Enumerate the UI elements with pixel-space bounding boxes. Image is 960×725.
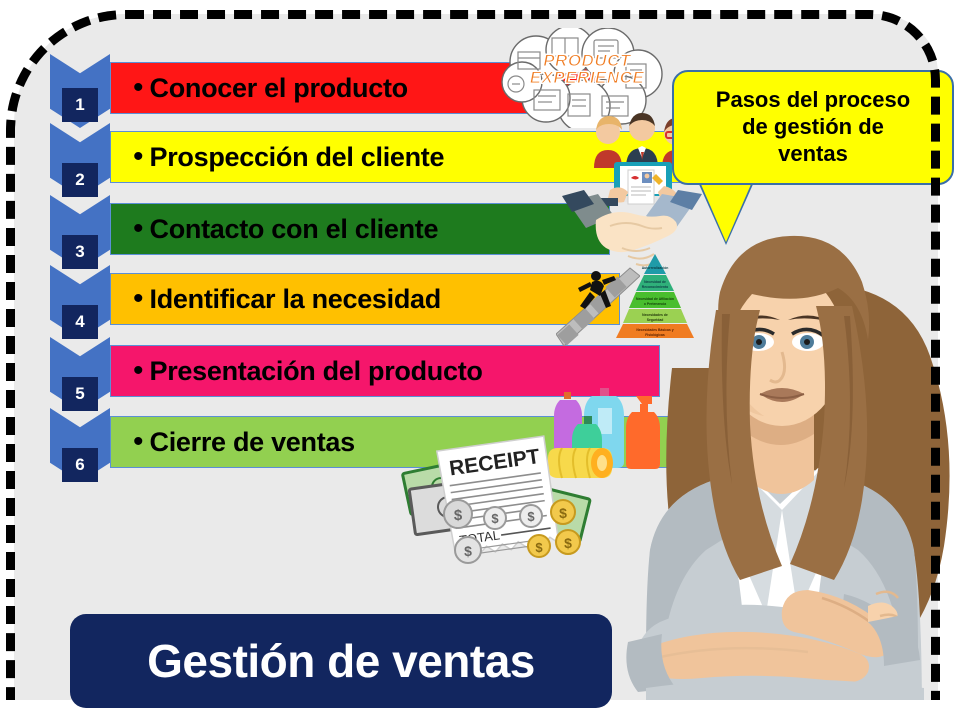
pe-line-1: PRODUCT (512, 52, 662, 69)
step-label: Conocer el producto (150, 73, 408, 104)
step-label: Cierre de ventas (150, 427, 355, 458)
callout-line-1: Pasos del proceso (716, 87, 910, 114)
step-label: Presentación del producto (150, 356, 483, 387)
svg-text:$: $ (559, 505, 567, 521)
callout-line-2: de gestión de (716, 114, 910, 141)
svg-text:$: $ (535, 540, 543, 555)
step-label: Contacto con el cliente (150, 214, 439, 245)
step-number-badge: 1 (62, 88, 98, 122)
step-bar[interactable]: • Contacto con el cliente (110, 203, 610, 255)
step-number-badge: 4 (62, 305, 98, 339)
svg-text:$: $ (464, 543, 472, 559)
step-number: 6 (75, 455, 84, 475)
callout-bubble: Pasos del proceso de gestión de ventas (672, 70, 954, 185)
step-number-badge: 2 (62, 163, 98, 197)
page-title: Gestión de ventas (147, 634, 535, 688)
product-experience-label: PRODUCT EXPERIENCE (512, 52, 662, 86)
step-number-badge: 3 (62, 235, 98, 269)
svg-text:$: $ (491, 511, 499, 526)
step-number-badge: 6 (62, 448, 98, 482)
step-number: 4 (75, 312, 84, 332)
callout-tail (700, 182, 752, 242)
step-label: Prospección del cliente (150, 142, 445, 173)
svg-text:$: $ (564, 535, 572, 551)
step-number: 3 (75, 242, 84, 262)
step-bar[interactable]: • Identificar la necesidad (110, 273, 620, 325)
title-banner: Gestión de ventas (70, 614, 612, 708)
step-label: Identificar la necesidad (150, 284, 441, 315)
pe-line-2: EXPERIENCE (512, 69, 662, 86)
callout-text: Pasos del proceso de gestión de ventas (716, 87, 910, 167)
infographic-canvas: PRODUCT EXPERIENCE (0, 0, 960, 720)
step-number: 5 (75, 384, 84, 404)
step-number: 2 (75, 170, 84, 190)
svg-text:$: $ (454, 507, 463, 524)
businesswoman-illustration (612, 218, 960, 720)
callout-line-3: ventas (716, 141, 910, 168)
receipt-money-icon: RECEIPT TOTAL $ $ $ $ $ (396, 428, 626, 568)
svg-text:$: $ (527, 509, 535, 524)
step-number: 1 (75, 95, 84, 115)
step-number-badge: 5 (62, 377, 98, 411)
